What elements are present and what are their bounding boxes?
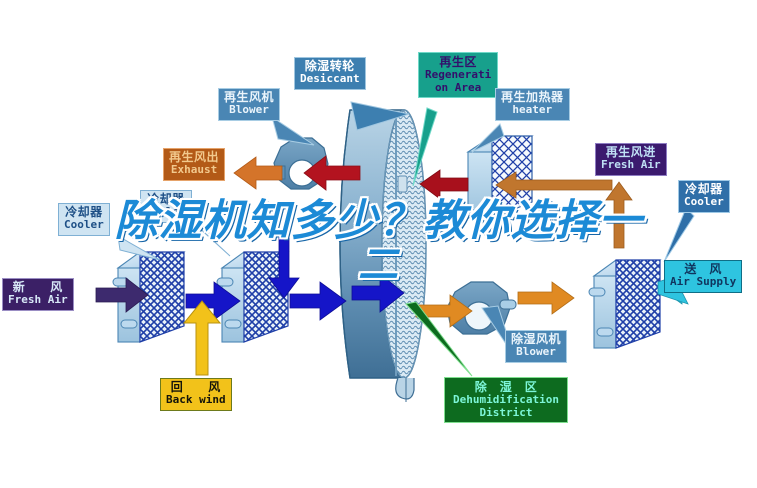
label-fresh-air-inlet-cn: 新 风 xyxy=(8,281,68,294)
label-cooler-right-en: Cooler xyxy=(684,196,724,208)
label-air-supply-cn: 送 风 xyxy=(670,263,736,276)
label-dehum-blower: 除湿风机 Blower xyxy=(505,330,567,363)
label-exhaust: 再生风出 Exhaust xyxy=(163,148,225,181)
label-air-supply: 送 风 Air Supply xyxy=(664,260,742,293)
cooler-unit-right xyxy=(589,260,660,348)
label-dehumidification-district-en2: District xyxy=(453,407,559,419)
dehum-outlet-arrow xyxy=(518,282,574,314)
label-regen-heater: 再生加热器 heater xyxy=(495,88,570,121)
label-exhaust-cn: 再生风出 xyxy=(169,151,219,164)
label-desiccant-rotor: 除湿转轮 Desiccant xyxy=(294,57,366,90)
label-cooler-left-1-cn: 冷却器 xyxy=(64,206,104,219)
label-back-wind: 回 风 Back wind xyxy=(160,378,232,411)
label-air-supply-en: Air Supply xyxy=(670,276,736,288)
label-dehum-blower-en: Blower xyxy=(511,346,561,358)
regen-heated-arrow xyxy=(420,170,468,199)
label-regen-blower-cn: 再生风机 xyxy=(224,91,274,104)
label-regeneration-area-en2: on Area xyxy=(425,82,491,94)
label-regeneration-area-cn: 再生区 xyxy=(425,56,491,69)
label-desiccant-rotor-cn: 除湿转轮 xyxy=(300,60,360,73)
label-cooler-left-2-en: Cooler xyxy=(146,206,186,218)
label-regeneration-area-en: Regenerati xyxy=(425,69,491,81)
label-cooler-left-2-cn: 冷却器 xyxy=(146,193,186,206)
label-exhaust-en: Exhaust xyxy=(169,164,219,176)
label-regeneration-area: 再生区 Regenerati on Area xyxy=(418,52,498,98)
label-regen-blower: 再生风机 Blower xyxy=(218,88,280,121)
label-dehumidification-district-cn: 除 湿 区 xyxy=(453,381,559,394)
label-dehumidification-district: 除 湿 区 Dehumidification District xyxy=(444,377,568,423)
label-regen-blower-en: Blower xyxy=(224,104,274,116)
label-regen-heater-cn: 再生加热器 xyxy=(501,91,564,104)
label-regen-fresh-air: 再生风进 Fresh Air xyxy=(595,143,667,176)
label-back-wind-cn: 回 风 xyxy=(166,381,226,394)
label-cooler-left-1-en: Cooler xyxy=(64,219,104,231)
desiccant-rotor xyxy=(340,110,426,402)
label-fresh-air-inlet: 新 风 Fresh Air xyxy=(2,278,74,311)
label-cooler-left-2: 冷却器 Cooler xyxy=(140,190,192,223)
label-desiccant-rotor-en: Desiccant xyxy=(300,73,360,85)
label-cooler-right: 冷却器 Cooler xyxy=(678,180,730,213)
label-regen-fresh-air-cn: 再生风进 xyxy=(601,146,661,159)
diagram-canvas: 除湿转轮 Desiccant 再生风机 Blower 再生区 Regenerat… xyxy=(0,0,757,488)
label-cooler-right-cn: 冷却器 xyxy=(684,183,724,196)
label-dehum-blower-cn: 除湿风机 xyxy=(511,333,561,346)
label-dehumidification-district-en: Dehumidification xyxy=(453,394,559,406)
dehumidifier-schematic xyxy=(0,0,757,488)
label-cooler-left-1: 冷却器 Cooler xyxy=(58,203,110,236)
process-arrow-2 xyxy=(290,282,346,320)
label-regen-heater-en: heater xyxy=(501,104,564,116)
label-back-wind-en: Back wind xyxy=(166,394,226,406)
regen-fresh-air-arrow xyxy=(496,172,632,248)
label-regen-fresh-air-en: Fresh Air xyxy=(601,159,661,171)
label-fresh-air-inlet-en: Fresh Air xyxy=(8,294,68,306)
